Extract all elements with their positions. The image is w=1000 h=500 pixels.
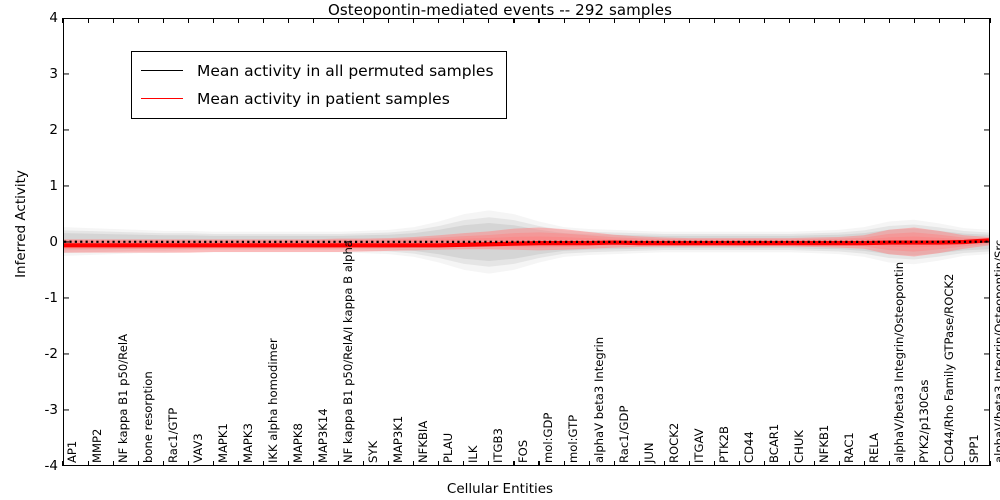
x-tick-label: ITGB3	[493, 428, 505, 463]
x-tick-mark	[288, 18, 289, 23]
x-tick-mark	[964, 461, 965, 466]
x-tick-mark	[789, 18, 790, 23]
x-tick-mark	[413, 18, 414, 23]
x-tick-mark	[614, 461, 615, 466]
y-tick-label: 3	[18, 66, 58, 82]
x-tick-label: NFKB1	[819, 425, 831, 463]
x-tick-mark	[764, 18, 765, 23]
y-tick-mark	[984, 241, 990, 242]
y-tick-label: -3	[18, 402, 58, 418]
x-tick-label: Rac1/GTP	[168, 408, 180, 463]
y-tick-mark	[984, 353, 990, 354]
x-tick-label: CD44	[744, 431, 756, 463]
x-tick-mark	[689, 18, 690, 23]
legend-item-patient: Mean activity in patient samples	[141, 86, 494, 111]
x-tick-label: NFKBIA	[418, 421, 430, 463]
x-tick-mark	[614, 18, 615, 23]
x-tick-mark	[488, 18, 489, 23]
x-tick-label: MAP3K1	[393, 416, 405, 463]
x-tick-label: PLAU	[443, 433, 455, 463]
y-tick-mark	[63, 353, 69, 354]
x-tick-label: CHUK	[794, 430, 806, 463]
x-tick-mark	[814, 18, 815, 23]
y-tick-label: -4	[18, 458, 58, 474]
x-tick-mark	[88, 18, 89, 23]
x-tick-mark	[914, 18, 915, 23]
x-tick-mark	[413, 461, 414, 466]
x-tick-mark	[889, 18, 890, 23]
x-tick-label: CD44/Rho Family GTPase/ROCK2	[944, 274, 956, 463]
x-tick-label: MAPK3	[243, 423, 255, 463]
x-tick-label: SYK	[368, 441, 380, 463]
figure: Osteopontin-mediated events -- 292 sampl…	[0, 0, 1000, 500]
x-tick-label: FOS	[518, 440, 530, 463]
y-tick-label: 1	[18, 178, 58, 194]
x-tick-label: IKK alpha homodimer	[268, 338, 280, 463]
x-tick-mark	[513, 18, 514, 23]
x-tick-mark	[814, 461, 815, 466]
x-tick-mark	[213, 18, 214, 23]
x-tick-mark	[238, 461, 239, 466]
plot-area: Mean activity in all permuted samples Me…	[63, 18, 990, 466]
x-tick-label: ILK	[468, 446, 480, 463]
x-tick-mark	[714, 18, 715, 23]
x-tick-label: ROCK2	[669, 423, 681, 463]
x-tick-mark	[939, 461, 940, 466]
x-tick-mark	[313, 461, 314, 466]
x-tick-mark	[939, 18, 940, 23]
x-tick-label: Rac1/GDP	[619, 406, 631, 463]
x-tick-mark	[238, 18, 239, 23]
y-tick-mark	[984, 129, 990, 130]
x-tick-mark	[138, 461, 139, 466]
x-tick-mark	[288, 461, 289, 466]
y-tick-mark	[984, 185, 990, 186]
x-tick-mark	[313, 18, 314, 23]
y-tick-label: 0	[18, 234, 58, 250]
x-tick-mark	[739, 18, 740, 23]
x-tick-mark	[839, 461, 840, 466]
x-tick-mark	[138, 18, 139, 23]
chart-legend: Mean activity in all permuted samples Me…	[131, 51, 507, 119]
x-tick-mark	[188, 18, 189, 23]
x-tick-mark	[989, 18, 990, 23]
x-tick-mark	[739, 461, 740, 466]
x-tick-mark	[463, 18, 464, 23]
chart-title: Osteopontin-mediated events -- 292 sampl…	[0, 1, 1000, 19]
x-tick-mark	[789, 461, 790, 466]
y-tick-label: 4	[18, 10, 58, 26]
x-tick-mark	[513, 461, 514, 466]
x-tick-mark	[564, 18, 565, 23]
x-tick-label: ITGAV	[694, 428, 706, 463]
legend-line-patient	[141, 98, 183, 99]
x-tick-mark	[113, 461, 114, 466]
y-tick-mark	[63, 409, 69, 410]
x-tick-label: NF kappa B1 p50/RelA	[118, 334, 130, 463]
x-tick-mark	[388, 18, 389, 23]
x-tick-label: JUN	[644, 442, 656, 463]
legend-item-permuted: Mean activity in all permuted samples	[141, 58, 494, 83]
y-tick-mark	[63, 297, 69, 298]
x-tick-mark	[438, 18, 439, 23]
x-tick-mark	[338, 461, 339, 466]
x-tick-label: MAPK8	[293, 423, 305, 463]
x-tick-mark	[689, 461, 690, 466]
x-tick-label: RAC1	[844, 432, 856, 463]
x-tick-mark	[538, 18, 539, 23]
x-tick-mark	[889, 461, 890, 466]
x-tick-label: AP1	[67, 441, 79, 463]
x-tick-label: MAPK1	[218, 423, 230, 463]
y-tick-mark	[984, 409, 990, 410]
x-tick-mark	[488, 461, 489, 466]
x-tick-mark	[62, 18, 63, 23]
x-tick-mark	[88, 461, 89, 466]
x-tick-mark	[989, 461, 990, 466]
x-tick-label: alphaV/beta3 Integrin/Osteopontin	[894, 262, 906, 463]
x-tick-label: VAV3	[193, 433, 205, 463]
x-tick-mark	[213, 461, 214, 466]
x-tick-label: PTK2B	[719, 426, 731, 463]
x-tick-mark	[438, 461, 439, 466]
x-tick-mark	[338, 18, 339, 23]
x-tick-mark	[664, 461, 665, 466]
x-tick-mark	[263, 461, 264, 466]
x-tick-label: NF kappa B1 p50/RelA/I kappa B alpha	[343, 240, 355, 463]
y-tick-label: 2	[18, 122, 58, 138]
x-tick-mark	[864, 461, 865, 466]
y-tick-mark	[63, 241, 69, 242]
x-tick-mark	[639, 461, 640, 466]
x-tick-mark	[363, 461, 364, 466]
x-tick-mark	[589, 18, 590, 23]
x-tick-mark	[363, 18, 364, 23]
x-tick-mark	[263, 18, 264, 23]
x-tick-label: alphaV beta3 Integrin	[594, 337, 606, 463]
x-tick-label: mol:GDP	[543, 413, 555, 463]
y-tick-mark	[984, 297, 990, 298]
x-tick-label: RELA	[869, 433, 881, 463]
x-tick-mark	[914, 461, 915, 466]
x-tick-label: BCAR1	[769, 424, 781, 463]
y-tick-mark	[63, 73, 69, 74]
x-tick-mark	[639, 18, 640, 23]
legend-label-permuted: Mean activity in all permuted samples	[197, 62, 494, 80]
x-tick-mark	[864, 18, 865, 23]
x-tick-mark	[839, 18, 840, 23]
x-tick-label: MMP2	[92, 429, 104, 463]
legend-label-patient: Mean activity in patient samples	[197, 90, 450, 108]
x-tick-label: alphaV/beta3 Integrin/Osteopontin/Src	[994, 240, 1000, 463]
x-axis-label: Cellular Entities	[0, 481, 1000, 497]
x-tick-mark	[964, 18, 965, 23]
x-tick-mark	[163, 461, 164, 466]
x-tick-mark	[714, 461, 715, 466]
y-tick-mark	[63, 185, 69, 186]
y-tick-mark	[63, 129, 69, 130]
x-tick-mark	[538, 461, 539, 466]
y-tick-mark	[984, 73, 990, 74]
x-tick-label: bone resorption	[143, 371, 155, 463]
y-tick-label: -2	[18, 346, 58, 362]
x-tick-mark	[188, 461, 189, 466]
x-tick-mark	[463, 461, 464, 466]
x-tick-mark	[62, 461, 63, 466]
x-tick-mark	[388, 461, 389, 466]
x-tick-mark	[589, 461, 590, 466]
legend-line-permuted	[141, 70, 183, 71]
y-tick-label: -1	[18, 290, 58, 306]
x-tick-mark	[163, 18, 164, 23]
x-tick-label: mol:GTP	[568, 415, 580, 463]
x-tick-mark	[113, 18, 114, 23]
x-tick-label: PYK2/p130Cas	[919, 380, 931, 463]
x-tick-mark	[764, 461, 765, 466]
x-tick-mark	[664, 18, 665, 23]
x-tick-mark	[564, 461, 565, 466]
x-tick-label: SPP1	[969, 434, 981, 463]
x-tick-label: MAP3K14	[318, 408, 330, 463]
